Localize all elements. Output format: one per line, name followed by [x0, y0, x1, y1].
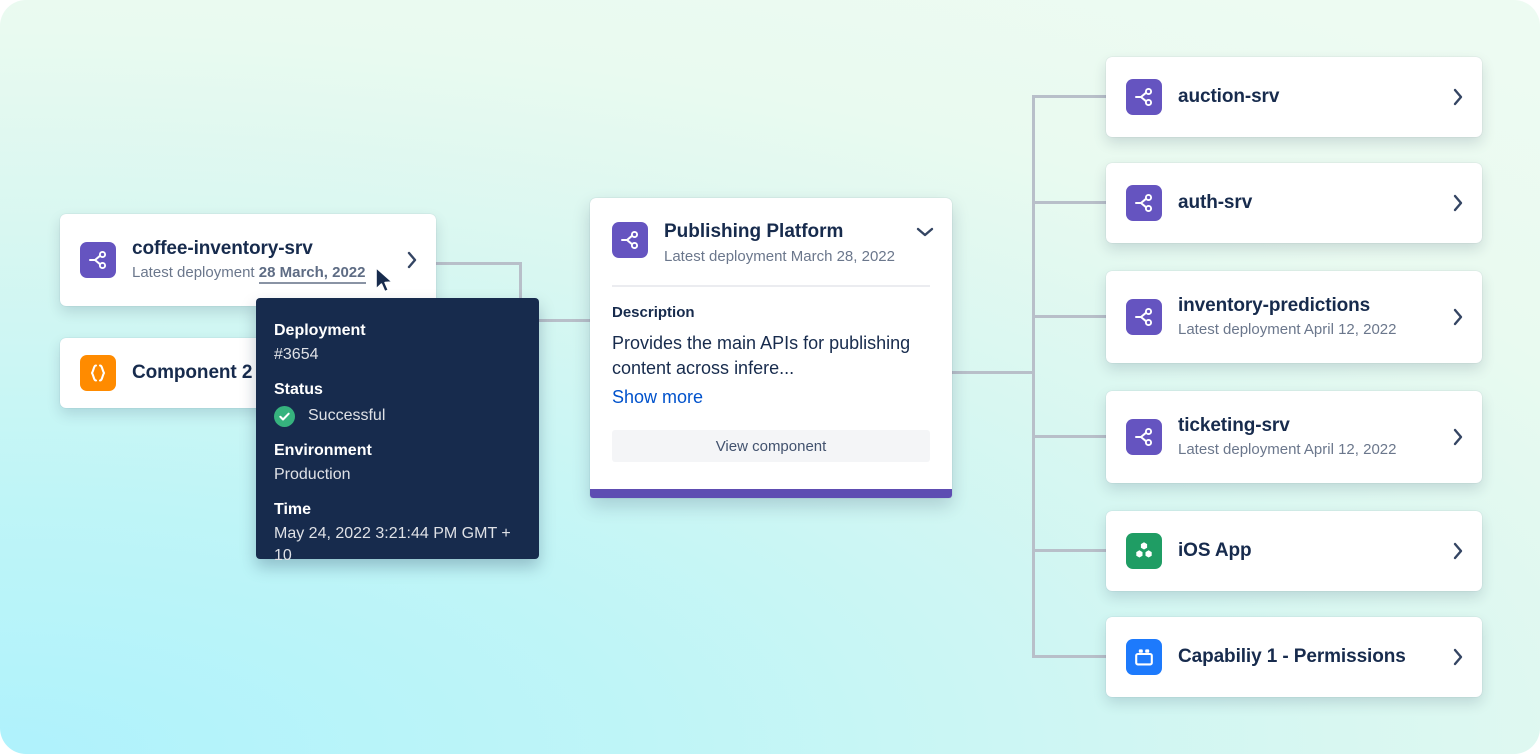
- card-title: auth-srv: [1178, 191, 1436, 215]
- service-fork-icon: [1126, 419, 1162, 455]
- service-fork-icon: [1126, 299, 1162, 335]
- connector-branch-inventory: [1032, 315, 1108, 318]
- arrow-pointer-icon: [374, 266, 396, 296]
- connector-center-out: [951, 371, 1035, 374]
- tooltip-group-deployment: Deployment #3654: [274, 320, 517, 366]
- card-subtitle: Latest deployment April 12, 2022: [1178, 319, 1436, 340]
- card-accent-bar: [590, 489, 952, 498]
- latest-deployment-link[interactable]: 28 March, 2022: [259, 264, 366, 284]
- card-title: coffee-inventory-srv: [132, 237, 390, 261]
- service-fork-icon: [80, 242, 116, 278]
- view-component-button[interactable]: View component: [612, 430, 930, 462]
- chevron-right-icon[interactable]: [406, 251, 418, 269]
- card-title: Capabiliy 1 - Permissions: [1178, 645, 1436, 669]
- connector-branch-auction: [1032, 95, 1108, 98]
- capability-1-permissions-card[interactable]: Capabiliy 1 - Permissions: [1106, 617, 1482, 697]
- description-text: Provides the main APIs for publishing co…: [612, 331, 930, 381]
- page-title: Publishing Platform: [664, 220, 900, 244]
- publishing-platform-card[interactable]: Publishing Platform Latest deployment Ma…: [590, 198, 952, 498]
- show-more-link[interactable]: Show more: [612, 385, 930, 410]
- service-fork-icon: [1126, 185, 1162, 221]
- ticketing-srv-card[interactable]: ticketing-srv Latest deployment April 12…: [1106, 391, 1482, 483]
- tooltip-value: #3654: [274, 344, 517, 366]
- card-title: auction-srv: [1178, 85, 1436, 109]
- connector-branch-ticketing: [1032, 435, 1108, 438]
- tooltip-value: Successful: [308, 405, 385, 427]
- card-title: ticketing-srv: [1178, 414, 1436, 438]
- inventory-predictions-card[interactable]: inventory-predictions Latest deployment …: [1106, 271, 1482, 363]
- hexagon-cluster-icon: [1126, 533, 1162, 569]
- description-label: Description: [612, 303, 930, 323]
- tooltip-value: Production: [274, 464, 517, 486]
- chevron-right-icon[interactable]: [1452, 308, 1464, 326]
- card-title: iOS App: [1178, 539, 1436, 563]
- chevron-right-icon[interactable]: [1452, 194, 1464, 212]
- tooltip-label: Deployment: [274, 320, 517, 342]
- connector-branch-auth: [1032, 201, 1108, 204]
- tooltip-label: Time: [274, 499, 517, 521]
- connector-branch-ios: [1032, 549, 1108, 552]
- auth-srv-card[interactable]: auth-srv: [1106, 163, 1482, 243]
- chevron-right-icon[interactable]: [1452, 428, 1464, 446]
- service-fork-icon: [1126, 79, 1162, 115]
- connector-left-seg-1: [436, 262, 522, 265]
- check-circle-icon: [274, 406, 295, 427]
- deployment-tooltip: Deployment #3654 Status Successful Envir…: [256, 298, 539, 559]
- tooltip-label: Environment: [274, 440, 517, 462]
- tooltip-value: May 24, 2022 3:21:44 PM GMT + 10: [274, 523, 517, 567]
- card-title: inventory-predictions: [1178, 294, 1436, 318]
- auction-srv-card[interactable]: auction-srv: [1106, 57, 1482, 137]
- toolbox-icon: [1126, 639, 1162, 675]
- component-dependency-graph: coffee-inventory-srv Latest deployment 2…: [0, 0, 1540, 754]
- card-subtitle: Latest deployment April 12, 2022: [1178, 439, 1436, 460]
- chevron-down-icon[interactable]: [916, 226, 934, 238]
- tooltip-group-time: Time May 24, 2022 3:21:44 PM GMT + 10: [274, 499, 517, 567]
- tooltip-group-status: Status Successful: [274, 379, 517, 427]
- tooltip-group-environment: Environment Production: [274, 440, 517, 486]
- card-subtitle: Latest deployment March 28, 2022: [664, 246, 900, 267]
- card-subtitle: Latest deployment 28 March, 2022: [132, 262, 390, 283]
- ios-app-card[interactable]: iOS App: [1106, 511, 1482, 591]
- service-fork-icon: [612, 222, 648, 258]
- curly-braces-icon: [80, 355, 116, 391]
- chevron-right-icon[interactable]: [1452, 648, 1464, 666]
- tooltip-label: Status: [274, 379, 517, 401]
- connector-right-trunk: [1032, 95, 1035, 656]
- subtitle-prefix: Latest deployment: [132, 264, 259, 281]
- connector-branch-capability: [1032, 655, 1108, 658]
- chevron-right-icon[interactable]: [1452, 88, 1464, 106]
- chevron-right-icon[interactable]: [1452, 542, 1464, 560]
